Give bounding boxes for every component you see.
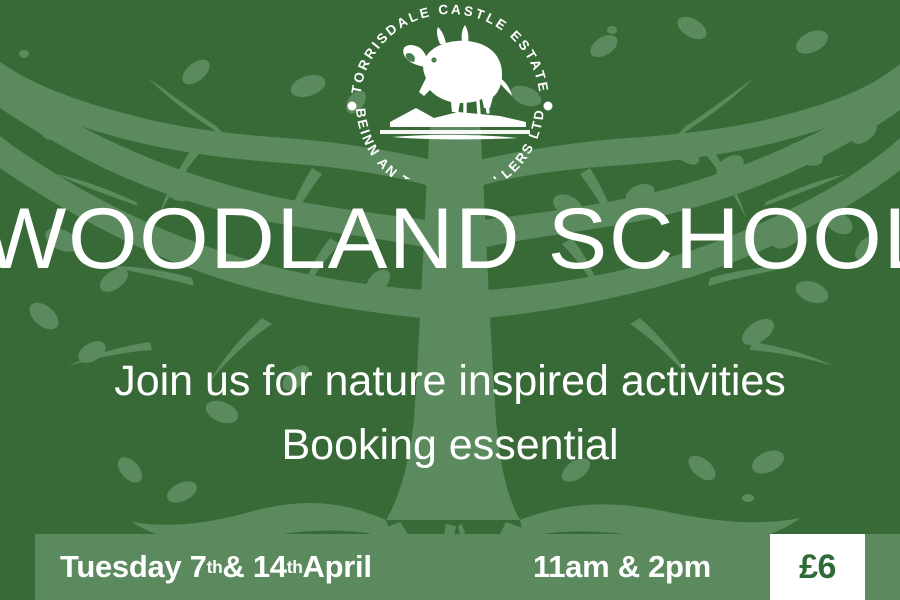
event-date-suffix: April: [303, 549, 372, 585]
event-date-prefix: Tuesday 7: [60, 549, 207, 585]
wild-boar-icon: [380, 25, 530, 139]
price-value: £6: [799, 548, 836, 587]
poster: TORRISDALE CASTLE ESTATE BEINN AN TUIRC …: [0, 0, 900, 600]
torrisdale-castle-estate-logo: TORRISDALE CASTLE ESTATE BEINN AN TUIRC …: [330, 4, 570, 179]
event-date-mid: & 14: [222, 549, 286, 585]
event-details-banner: Tuesday 7th & 14th April 11am & 2pm £6: [35, 534, 900, 600]
logo-dot-left: [348, 102, 357, 111]
subtitle-line-1: Join us for nature inspired activities: [0, 360, 900, 403]
event-date: Tuesday 7th & 14th April: [60, 534, 372, 600]
subtitle-line-2: Booking essential: [0, 424, 900, 467]
event-time: 11am & 2pm: [533, 534, 711, 600]
logo-dot-right: [544, 102, 553, 111]
page-title: WOODLAND SCHOOL: [0, 196, 900, 282]
price-badge: £6: [770, 534, 865, 600]
